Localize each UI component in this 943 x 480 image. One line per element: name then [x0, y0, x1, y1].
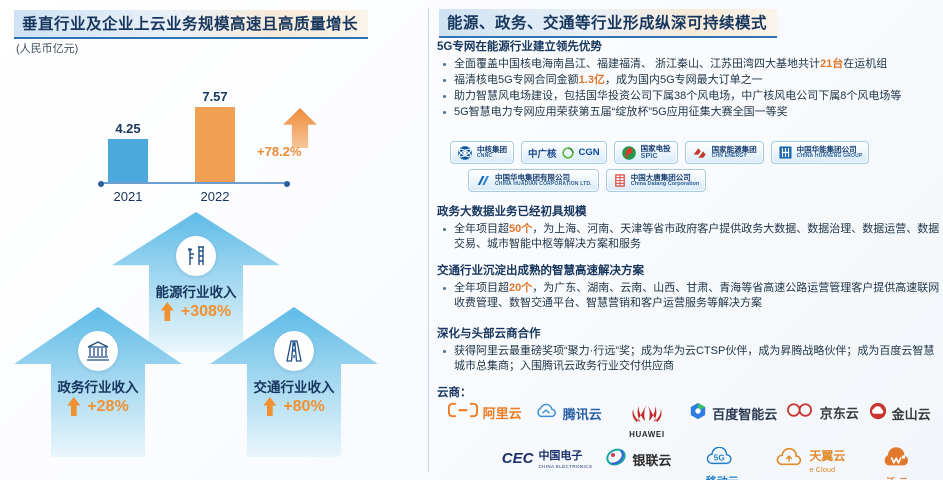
bar-rect-2021: [108, 139, 148, 184]
logo-spic: 国家电投 SPIC: [614, 141, 678, 164]
logo-text-en: CHINA HUADIAN CORPORATION LTD.: [495, 182, 592, 187]
list-item: 5G智慧电力专网应用荣获第五届“绽放杯”5G应用征集大赛全国一等奖: [432, 105, 943, 120]
chart-growth-label: +78.2%: [257, 144, 301, 159]
section-heading: 5G专网在能源行业建立领先优势: [437, 38, 943, 54]
cmcc-cloud-logo-mark: 5G: [704, 447, 740, 472]
kingsoft-cloud-logo-mark: [869, 402, 887, 425]
government-building-icon: [78, 331, 118, 371]
growth-arrow-icon: [283, 108, 317, 148]
logo-text-cn: 国家电投: [641, 145, 671, 153]
arrow-growth-transport: +80%: [263, 397, 324, 416]
bar-value-2021: 4.25: [115, 121, 140, 136]
huaneng-logo-mark: [778, 145, 793, 160]
logo-text: 金山云: [892, 404, 931, 423]
logo-text-cn: 中广核: [528, 146, 557, 160]
logo-ctyun: 天翼云 e Cloud: [762, 447, 858, 474]
logo-row: CEC 中国电子 CHINA ELECTRONICS 银联云 5G: [442, 447, 937, 480]
logo-huadian: 中国华电集团有限公司 CHINA HUADIAN CORPORATION LTD…: [468, 169, 599, 192]
logo-text: 银联云: [632, 450, 671, 469]
list-item: 福清核电5G专网合同金额1.3亿，成为国内5G专网最大订单之一: [432, 73, 943, 88]
slide-root: 垂直行业及企业上云业务规模高速且高质量增长 (人民币亿元) +78.2% 4.2…: [0, 0, 943, 480]
arrow-government-revenue: 政务行业收入 +28%: [14, 307, 182, 457]
revenue-bar-chart: +78.2% 4.25 7.57 2021 2022: [100, 58, 335, 208]
baidu-cloud-logo-mark: [689, 402, 707, 425]
arrow-caption-energy: 能源行业收入: [156, 281, 237, 301]
logo-row: 中核集团 CNNC 中广核 CGN 国家电投: [450, 141, 930, 164]
svg-text:5G: 5G: [714, 454, 725, 463]
logo-row: 阿里云 腾讯云 HUAWEI: [442, 402, 937, 439]
bullet-list: 全面覆盖中国核电海南昌江、福建福清、 浙江秦山、江苏田湾四大基地共计21台在运机…: [432, 57, 943, 120]
bullet-list: 全年项目超50个，为上海、河南、天津等省市政府客户提供政务大数据、数据治理、数据…: [432, 222, 943, 252]
left-panel: 垂直行业及企业上云业务规模高速且高质量增长 (人民币亿元) +78.2% 4.2…: [0, 0, 432, 480]
logo-text: 百度智能云: [712, 404, 777, 423]
axis-tick-2022: 2022: [185, 189, 245, 204]
industry-arrows: 能源行业收入 +308% 政务行业收入: [0, 212, 432, 480]
energy-partner-logos: 中核集团 CNNC 中广核 CGN 国家电投: [450, 141, 930, 197]
unionpay-cloud-logo-mark: [605, 447, 627, 472]
logo-unionpay-cloud: 银联云: [594, 447, 683, 472]
spic-logo-mark: [621, 145, 637, 161]
logo-text-en: China Datang Corporation: [631, 182, 699, 188]
section-heading: 政务大数据业务已经初具规模: [437, 203, 943, 219]
logo-text-en: CEC: [502, 450, 534, 467]
logo-cmcc-cloud: 5G 移动云: [683, 447, 762, 480]
bar-2021: 4.25: [108, 139, 148, 184]
logo-subtext: CHINA ELECTRONICS: [538, 464, 592, 469]
bar-rect-2022: [195, 107, 235, 184]
logo-tencent-cloud: 腾讯云: [527, 402, 608, 425]
logo-aliyun: 阿里云: [442, 402, 527, 423]
tencent-cloud-logo-mark: [534, 402, 558, 425]
power-tower-icon: [176, 236, 216, 276]
logo-kingsoft-cloud: 金山云: [862, 402, 937, 425]
huawei-logo-mark: [627, 402, 667, 429]
list-item: 助力智慧风电场建设，包括国华投资公司下属38个风电场，中广核风电公司下属8个风电…: [432, 89, 943, 104]
logo-wocloud: 沃 云: [858, 447, 937, 480]
section-5g-energy: 5G专网在能源行业建立领先优势 全面覆盖中国核电海南昌江、福建福清、 浙江秦山、…: [432, 38, 943, 124]
logo-text: 京东云: [820, 403, 859, 422]
datang-logo-mark: [613, 173, 627, 188]
logo-chn-energy: 国家能源集团 CHN ENERGY: [685, 141, 764, 164]
arrow-transport-revenue: 交通行业收入 +80%: [210, 307, 378, 457]
chart-unit-label: (人民币亿元): [16, 40, 78, 56]
logo-text: 天翼云: [809, 447, 845, 464]
logo-text: 腾讯云: [563, 404, 602, 423]
logo-huawei: HUAWEI: [608, 402, 685, 439]
cgn-logo-mark: [561, 146, 575, 160]
logo-text: 阿里云: [483, 403, 522, 422]
logo-text-en: CHINA HUANENG GROUP: [797, 154, 863, 159]
axis-dot-left: [98, 181, 104, 187]
axis-tick-2021: 2021: [98, 189, 158, 204]
logo-text-cn: 中国电子: [538, 447, 582, 463]
logo-text-en: CNNC: [477, 154, 507, 159]
highlight-value: 21台: [820, 58, 843, 70]
logo-row: 中国华电集团有限公司 CHINA HUADIAN CORPORATION LTD…: [468, 169, 930, 192]
right-panel-title: 能源、政务、交通等行业形成纵深可持续模式: [439, 9, 777, 38]
logo-cgn: 中广核 CGN: [521, 141, 607, 164]
section-transport-smart-highway: 交通行业沉淀出成熟的智慧高速解决方案 全年项目超20个，为广东、湖南、云南、山西…: [432, 262, 943, 315]
highlight-value: 20个: [509, 282, 532, 294]
arrow-growth-value-transport: +80%: [283, 398, 324, 416]
left-panel-title: 垂直行业及企业上云业务规模高速且高质量增长: [14, 10, 368, 39]
section-government-bigdata: 政务大数据业务已经初具规模 全年项目超50个，为上海、河南、天津等省市政府客户提…: [432, 203, 943, 256]
arrow-growth-government: +28%: [67, 397, 128, 416]
list-item: 全面覆盖中国核电海南昌江、福建福清、 浙江秦山、江苏田湾四大基地共计21台在运机…: [432, 57, 943, 72]
chn-energy-logo-mark: [692, 145, 708, 161]
right-panel: 能源、政务、交通等行业形成纵深可持续模式 5G专网在能源行业建立领先优势 全面覆…: [432, 0, 943, 480]
bullet-list: 全年项目超20个，为广东、湖南、云南、山西、甘肃、青海等省高速公路运营管理客户提…: [432, 281, 943, 311]
logo-text: 移动云: [706, 473, 739, 480]
bar-2022: 7.57: [195, 107, 235, 184]
logo-jd-cloud: 京东云: [781, 402, 862, 423]
cloud-vendor-logos: 阿里云 腾讯云 HUAWEI: [442, 402, 937, 480]
list-item: 获得阿里云最重磅奖项“聚力·行远”奖；成为华为云CTSP伙伴，成为昇腾战略伙伴；…: [432, 344, 943, 374]
logo-text-en: SPIC: [641, 153, 671, 160]
list-item: 全年项目超50个，为上海、河南、天津等省市政府客户提供政务大数据、数据治理、数据…: [432, 222, 943, 252]
axis-dot-right: [284, 181, 290, 187]
cloud-vendors-label: 云商：: [437, 384, 472, 400]
logo-text-en: CGN: [579, 147, 600, 158]
logo-cec: CEC 中国电子 CHINA ELECTRONICS: [500, 447, 594, 469]
up-arrow-icon: [263, 397, 276, 416]
ctyun-logo-mark: [774, 448, 804, 473]
highlight-value: 50个: [509, 223, 532, 235]
up-arrow-icon: [67, 397, 80, 416]
logo-baidu-cloud: 百度智能云: [685, 402, 781, 425]
bullet-list: 获得阿里云最重磅奖项“聚力·行远”奖；成为华为云CTSP伙伴，成为昇腾战略伙伴；…: [432, 344, 943, 374]
logo-text: HUAWEI: [629, 430, 665, 439]
wocloud-logo-mark: [878, 447, 918, 474]
arrow-caption-government: 政务行业收入: [58, 376, 139, 396]
huadian-logo-mark: [475, 173, 491, 188]
jd-cloud-logo-mark: [785, 402, 815, 423]
logo-text: 沃 云: [886, 475, 908, 480]
logo-huaneng: 中国华能集团公司 CHINA HUANENG GROUP: [771, 141, 870, 164]
arrow-growth-value-government: +28%: [87, 398, 128, 416]
highlight-value: 1.3亿: [579, 74, 605, 86]
section-cloud-partnership: 深化与头部云商合作 获得阿里云最重磅奖项“聚力·行远”奖；成为华为云CTSP伙伴…: [432, 325, 943, 378]
section-heading: 深化与头部云商合作: [437, 325, 943, 341]
logo-subtext: e Cloud: [809, 465, 835, 474]
aliyun-logo-mark: [448, 402, 478, 423]
section-heading: 交通行业沉淀出成熟的智慧高速解决方案: [437, 262, 943, 278]
panel-divider: [428, 8, 429, 472]
logo-text-en: CHN ENERGY: [712, 154, 757, 159]
logo-datang: 中国大唐集团公司 China Datang Corporation: [606, 169, 706, 192]
cnnc-logo-mark: [457, 145, 473, 161]
logo-cnnc: 中核集团 CNNC: [450, 141, 514, 164]
chart-axis-line: [100, 182, 290, 184]
highway-road-icon: [274, 331, 314, 371]
arrow-caption-transport: 交通行业收入: [254, 376, 335, 396]
bar-value-2022: 7.57: [202, 89, 227, 104]
list-item: 全年项目超20个，为广东、湖南、云南、山西、甘肃、青海等省高速公路运营管理客户提…: [432, 281, 943, 311]
